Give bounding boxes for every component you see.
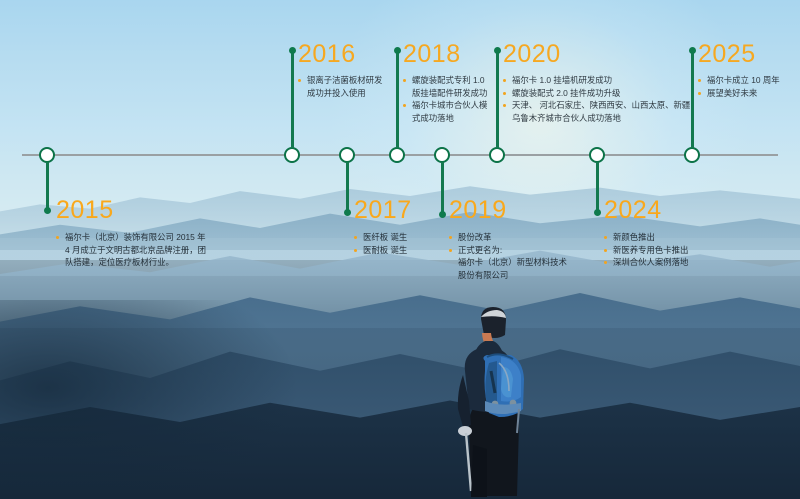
- milestone-bullets-2019: 股份改革 正式更名为: 福尔卡（北京）新型材料技术 股份有限公司: [449, 231, 567, 281]
- milestone-bullets-2024: 新颜色推出 新医养专用色卡推出 深圳合伙人案例落地: [604, 231, 688, 269]
- bullet-item-continuation: 4 月成立于文明古都北京品牌注册，团: [56, 244, 206, 257]
- milestone-year-2016: 2016: [298, 42, 382, 67]
- bullet-item: 福尔卡城市合伙人模: [403, 99, 487, 112]
- bullet-item: 深圳合伙人案例落地: [604, 256, 688, 269]
- bullet-item-continuation: 式成功落地: [403, 112, 487, 125]
- milestone-year-2025: 2025: [698, 42, 780, 67]
- node-ring-2024: [589, 147, 605, 163]
- milestone-year-2020: 2020: [503, 42, 690, 67]
- node-stem-2025: [691, 50, 694, 148]
- bullet-item: 新医养专用色卡推出: [604, 244, 688, 257]
- milestone-year-2017: 2017: [354, 198, 412, 223]
- milestone-bullets-2020: 福尔卡 1.0 挂墙机研发成功 螺旋装配式 2.0 挂件成功升级 天津、 河北石…: [503, 74, 690, 124]
- node-ring-2025: [684, 147, 700, 163]
- bullet-item-continuation: 福尔卡（北京）新型材料技术: [449, 256, 567, 269]
- milestone-bullets-2025: 福尔卡成立 10 周年 展望美好未来: [698, 74, 780, 99]
- node-dot-2015: [44, 207, 51, 214]
- bullet-item: 正式更名为:: [449, 244, 567, 257]
- bullet-item-continuation: 版挂墙配件研发成功: [403, 87, 487, 100]
- hiker-silhouette: [425, 305, 565, 499]
- milestone-year-2015: 2015: [56, 198, 206, 223]
- bullet-item: 展望美好未来: [698, 87, 780, 100]
- milestone-year-2024: 2024: [604, 198, 688, 223]
- node-stem-2019: [441, 162, 444, 214]
- bullet-item: 股份改革: [449, 231, 567, 244]
- node-ring-2019: [434, 147, 450, 163]
- timeline-node-2015[interactable]: [39, 0, 55, 210]
- milestone-year-2019: 2019: [449, 198, 567, 223]
- node-ring-2018: [389, 147, 405, 163]
- milestone-bullets-2017: 医纤板 诞生 医耐板 诞生: [354, 231, 412, 256]
- bullet-item-continuation: 乌鲁木齐城市合伙人成功落地: [503, 112, 690, 125]
- milestone-2025: 2025 福尔卡成立 10 周年 展望美好未来: [698, 42, 780, 99]
- node-stem-2020: [496, 50, 499, 148]
- milestone-bullets-2015: 福尔卡（北京）装饰有限公司 2015 年 4 月成立于文明古都北京品牌注册，团 …: [56, 231, 206, 269]
- node-dot-2024: [594, 209, 601, 216]
- bullet-item-continuation: 股份有限公司: [449, 269, 567, 282]
- node-stem-2016: [291, 50, 294, 148]
- node-stem-2024: [596, 162, 599, 212]
- milestone-2017: 2017 医纤板 诞生 医耐板 诞生: [354, 198, 412, 256]
- bullet-item: 新颜色推出: [604, 231, 688, 244]
- node-stem-2017: [346, 162, 349, 212]
- node-dot-2018: [394, 47, 401, 54]
- milestone-year-2018: 2018: [403, 42, 487, 67]
- node-dot-2016: [289, 47, 296, 54]
- foreground-shadow: [0, 300, 300, 499]
- bullet-item: 螺旋装配式专利 1.0: [403, 74, 487, 87]
- bullet-item: 螺旋装配式 2.0 挂件成功升级: [503, 87, 690, 100]
- milestone-2016: 2016 银离子洁菌板材研发 成功并投入使用: [298, 42, 382, 99]
- bullet-item-continuation: 成功并投入使用: [298, 87, 382, 100]
- bullet-item-continuation: 队搭建，定位医疗板材行业。: [56, 256, 206, 269]
- timeline-infographic: 2016 银离子洁菌板材研发 成功并投入使用 2018 螺旋装配式专利 1.0 …: [0, 0, 800, 499]
- node-dot-2017: [344, 209, 351, 216]
- node-stem-2018: [396, 50, 399, 148]
- bullet-item: 医纤板 诞生: [354, 231, 412, 244]
- bullet-item: 医耐板 诞生: [354, 244, 412, 257]
- node-ring-2020: [489, 147, 505, 163]
- bullet-item: 福尔卡 1.0 挂墙机研发成功: [503, 74, 690, 87]
- bullet-item: 银离子洁菌板材研发: [298, 74, 382, 87]
- bullet-item: 福尔卡（北京）装饰有限公司 2015 年: [56, 231, 206, 244]
- timeline-node-2017[interactable]: [339, 0, 355, 215]
- node-ring-2015: [39, 147, 55, 163]
- node-stem-2015: [46, 162, 49, 210]
- bullet-item: 天津、 河北石家庄、陕西西安、山西太原、新疆: [503, 99, 690, 112]
- milestone-2018: 2018 螺旋装配式专利 1.0 版挂墙配件研发成功 福尔卡城市合伙人模 式成功…: [403, 42, 487, 124]
- milestone-2015: 2015 福尔卡（北京）装饰有限公司 2015 年 4 月成立于文明古都北京品牌…: [56, 198, 206, 269]
- milestone-2020: 2020 福尔卡 1.0 挂墙机研发成功 螺旋装配式 2.0 挂件成功升级 天津…: [503, 42, 690, 124]
- milestone-bullets-2016: 银离子洁菌板材研发 成功并投入使用: [298, 74, 382, 99]
- node-dot-2020: [494, 47, 501, 54]
- bullet-item: 福尔卡成立 10 周年: [698, 74, 780, 87]
- milestone-2024: 2024 新颜色推出 新医养专用色卡推出 深圳合伙人案例落地: [604, 198, 688, 269]
- node-ring-2016: [284, 147, 300, 163]
- milestone-2019: 2019 股份改革 正式更名为: 福尔卡（北京）新型材料技术 股份有限公司: [449, 198, 567, 281]
- milestone-bullets-2018: 螺旋装配式专利 1.0 版挂墙配件研发成功 福尔卡城市合伙人模 式成功落地: [403, 74, 487, 124]
- node-ring-2017: [339, 147, 355, 163]
- node-dot-2019: [439, 211, 446, 218]
